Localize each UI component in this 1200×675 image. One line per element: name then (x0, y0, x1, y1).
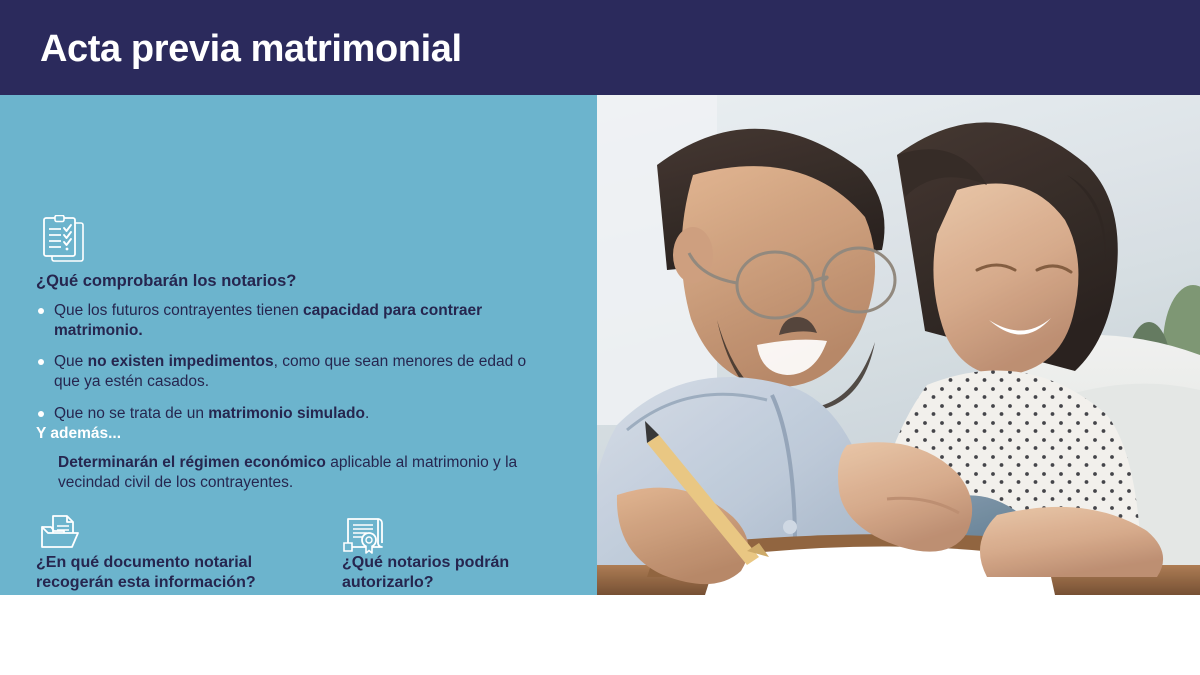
bullet-lead: Que (54, 353, 88, 370)
question-heading-documento: ¿En qué documento notarial recogerán est… (36, 553, 316, 592)
bullet-strong: matrimonio simulado (208, 405, 365, 422)
bullet-dot-icon (38, 308, 44, 314)
list-item: Que no se trata de un matrimonio simulad… (36, 404, 536, 424)
bullet-lead: Que no se trata de un (54, 405, 208, 422)
bullet-dot-icon (38, 411, 44, 417)
header-bar: Acta previa matrimonial (0, 0, 1200, 95)
clipboard-checklist-icon (40, 215, 86, 270)
bullet-tail: . (365, 405, 369, 422)
couple-signing-document-photo (597, 95, 1200, 595)
also-label: Y además... (36, 425, 121, 443)
checks-bullet-list: Que los futuros contrayentes tienen capa… (36, 301, 536, 435)
folder-document-icon (40, 513, 84, 558)
also-strong: Determinarán el régimen económico (58, 454, 326, 471)
bullet-strong: no existen impedimentos (88, 353, 274, 370)
list-item: Que no existen impedimentos, como que se… (36, 352, 536, 392)
question-heading-comprobaran: ¿Qué comprobarán los notarios? (36, 271, 296, 291)
bullet-dot-icon (38, 359, 44, 365)
question-heading-notarios: ¿Qué notarios podrán autorizarlo? (342, 553, 592, 592)
bullet-lead: Que los futuros contrayentes tienen (54, 302, 303, 319)
also-text: Determinarán el régimen económico aplica… (58, 453, 528, 493)
page-title: Acta previa matrimonial (40, 28, 462, 71)
content-panel: ¿Qué comprobarán los notarios? Que los f… (0, 95, 597, 595)
infographic-page: Acta previa matrimonial ¿Qué comprobarán… (0, 0, 1200, 675)
footer-bar: www.notariado.org ESPAÑA CONSEJO GENERAL… (0, 595, 1200, 675)
list-item: Que los futuros contrayentes tienen capa… (36, 301, 536, 341)
